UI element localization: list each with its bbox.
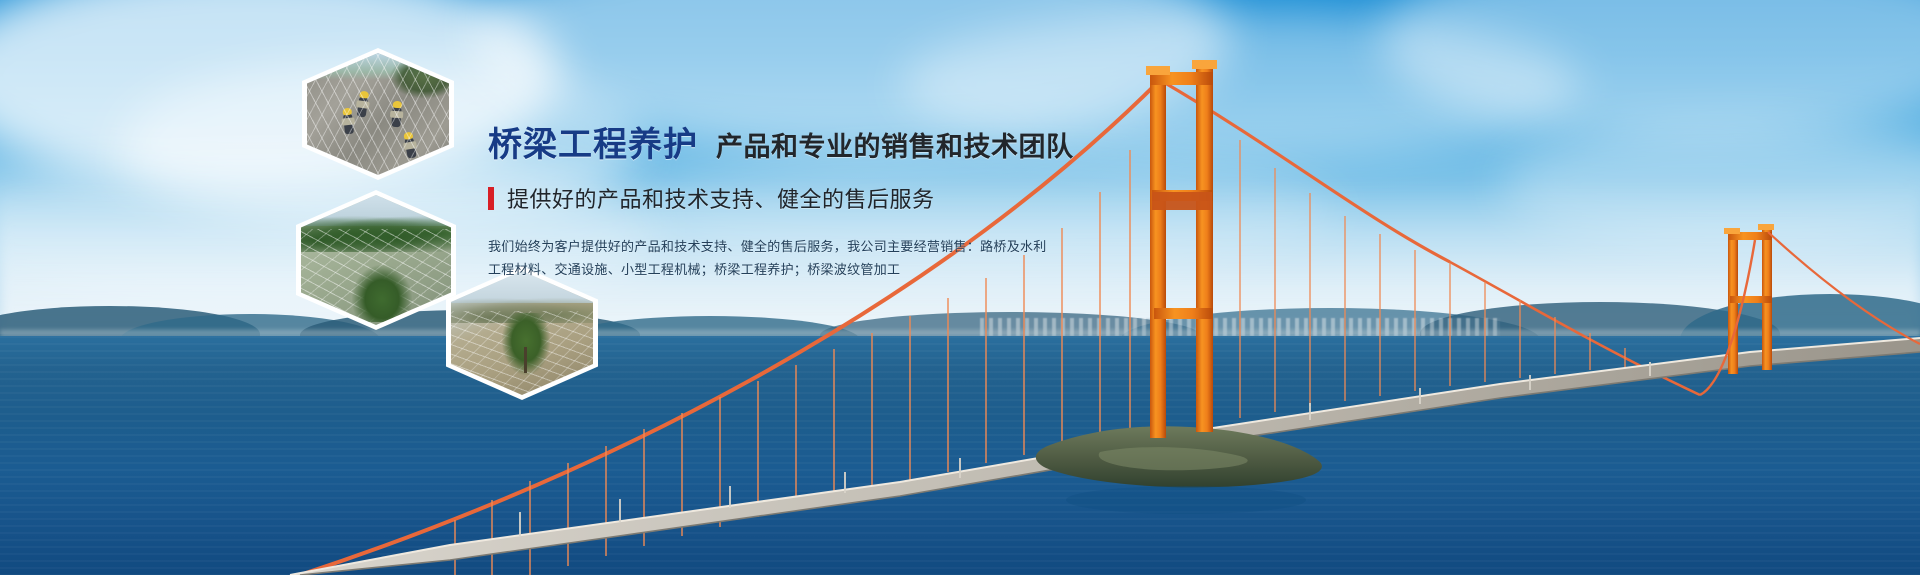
wire-mesh-overlay [307, 53, 449, 175]
hexagon-photo-cluster [0, 0, 620, 575]
photo-green-slope [301, 195, 451, 325]
banner-subheadline: 提供好的产品和技术支持、健全的售后服务 [488, 182, 1048, 214]
photo-tree [502, 313, 550, 375]
photo-shrub [352, 265, 412, 322]
headline-secondary: 产品和专业的销售和技术团队 [716, 134, 1074, 161]
hex-photo-green-slope-mesh[interactable] [296, 190, 456, 330]
subheadline-text: 提供好的产品和技术支持、健全的售后服务 [507, 182, 935, 214]
hero-banner: 桥梁工程养护 产品和专业的销售和技术团队 提供好的产品和技术支持、健全的售后服务… [0, 0, 1920, 575]
photo-rock-slope [307, 53, 449, 175]
paragraph-line-2: 工程材料、交通设施、小型工程机械；桥梁工程养护；桥梁波纹管加工 [488, 259, 1048, 282]
paragraph-line-1: 我们始终为客户提供好的产品和技术支持、健全的售后服务，我公司主要经营销售：路桥及… [488, 236, 1048, 259]
banner-paragraph: 我们始终为客户提供好的产品和技术支持、健全的售后服务，我公司主要经营销售：路桥及… [488, 236, 1048, 282]
banner-copy: 桥梁工程养护 产品和专业的销售和技术团队 提供好的产品和技术支持、健全的售后服务… [488, 128, 1048, 282]
banner-headline: 桥梁工程养护 产品和专业的销售和技术团队 [488, 128, 1048, 162]
headline-primary: 桥梁工程养护 [488, 128, 698, 162]
photo-dry-slope [451, 271, 593, 395]
hex-photo-rock-slope-mesh-workers[interactable] [302, 48, 454, 180]
hex-photo-dry-slope-tree-mesh[interactable] [446, 266, 598, 400]
accent-bar [488, 187, 494, 210]
